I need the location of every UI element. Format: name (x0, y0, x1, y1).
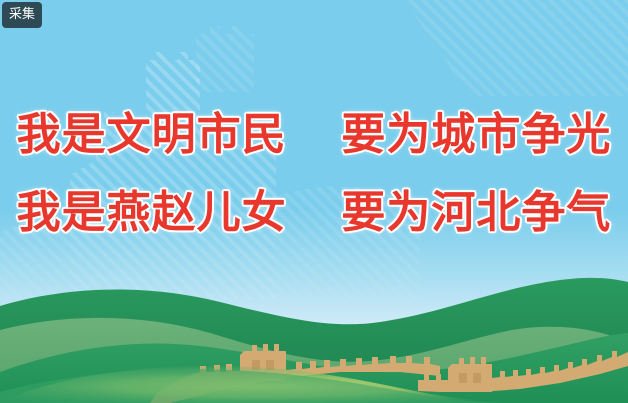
great-wall-right (418, 351, 628, 392)
slogan-line-2: 我是燕赵儿女 要为河北争气 (0, 174, 628, 252)
slogan-text-block: 我是文明市民 要为城市争光 我是燕赵儿女 要为河北争气 (0, 96, 628, 252)
hill-far-ridge (0, 278, 628, 403)
capture-button[interactable]: 采集 (2, 2, 42, 28)
great-wall-left (150, 344, 440, 403)
hill-front-dark (0, 333, 628, 403)
slogan-line-1-part-1: 我是文明市民 (17, 109, 287, 160)
hill-foreground-glow (0, 366, 520, 403)
slogan-banner: 我是文明市民 要为城市争光 我是燕赵儿女 要为河北争气 采集 (0, 0, 628, 403)
slogan-line-1-part-2: 要为城市争光 (341, 109, 611, 160)
hill-light-left (0, 318, 628, 403)
slogan-line-2-part-1: 我是燕赵儿女 (17, 187, 287, 238)
slogan-line-2-part-2: 要为河北争气 (341, 187, 611, 238)
slogan-line-1: 我是文明市民 要为城市争光 (0, 96, 628, 174)
hill-foreground-band (0, 369, 520, 403)
